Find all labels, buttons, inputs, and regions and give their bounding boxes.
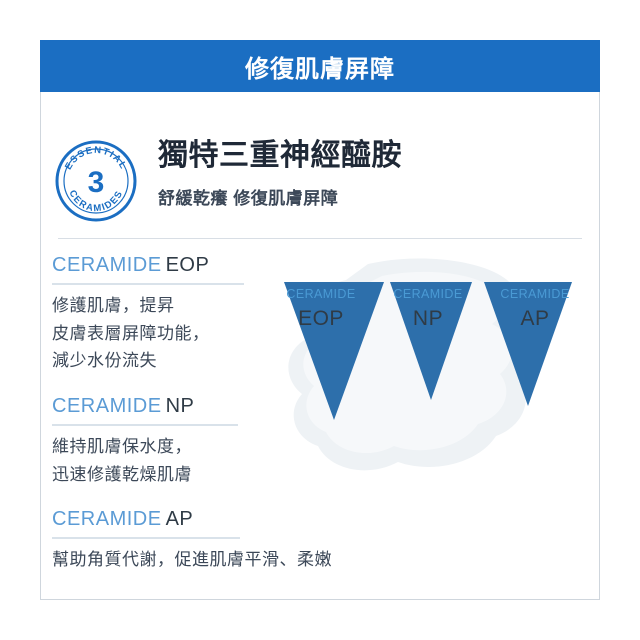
- ceramide-heading-eop: CERAMIDEEOP: [52, 254, 312, 277]
- ceramide-description-np: 維持肌膚保水度， 迅速修護乾燥肌膚: [52, 433, 312, 488]
- ceramide-block-eop: CERAMIDEEOP 修護肌膚，提昇 皮膚表層屏障功能， 減少水份流失: [52, 254, 312, 375]
- illus-label-np: CERAMIDE: [379, 287, 477, 301]
- ceramide-heading-np: CERAMIDENP: [52, 395, 312, 418]
- section-divider: [58, 238, 582, 239]
- illus-column-ap: CERAMIDE AP: [486, 287, 584, 331]
- ceramide-description-eop: 修護肌膚，提昇 皮膚表層屏障功能， 減少水份流失: [52, 292, 312, 375]
- illus-code-ap: AP: [486, 307, 584, 331]
- illus-column-np: CERAMIDE NP: [379, 287, 477, 331]
- title-block: 獨特三重神經醯胺 舒緩乾癢 修復肌膚屏障: [158, 138, 578, 209]
- ceramide-underline-ap: [52, 537, 240, 539]
- infographic-page: 修復肌膚屏障 ESSENTIAL CERAMIDES 3 ESSENTIAL 3…: [0, 0, 640, 640]
- ceramide-word-np: CERAMIDE: [52, 395, 162, 417]
- ceramide-code-ap: AP: [166, 508, 194, 530]
- illus-code-np: NP: [379, 307, 477, 331]
- ceramide-underline-eop: [52, 283, 244, 285]
- ceramide-underline-np: [52, 424, 238, 426]
- ceramide-word-ap: CERAMIDE: [52, 508, 162, 530]
- ceramide-code-np: NP: [166, 395, 195, 417]
- illus-label-ap: CERAMIDE: [486, 287, 584, 301]
- header-title: 修復肌膚屏障: [245, 49, 395, 84]
- ceramide-block-ap: CERAMIDEAP 幫助角質代謝，促進肌膚平滑、柔嫩: [52, 508, 312, 574]
- ceramide-heading-ap: CERAMIDEAP: [52, 508, 312, 531]
- ceramide-block-np: CERAMIDENP 維持肌膚保水度， 迅速修護乾燥肌膚: [52, 395, 312, 488]
- main-title: 獨特三重神經醯胺: [158, 138, 578, 174]
- svg-text:3: 3: [88, 166, 105, 199]
- essential-ceramides-badge-icon: ESSENTIAL CERAMIDES 3: [55, 140, 137, 222]
- ceramide-description-ap: 幫助角質代謝，促進肌膚平滑、柔嫩: [52, 546, 472, 574]
- ceramide-word-eop: CERAMIDE: [52, 254, 162, 276]
- header-banner: 修復肌膚屏障: [40, 40, 600, 92]
- illustration-labels: CERAMIDE EOP CERAMIDE NP CERAMIDE AP: [272, 287, 584, 331]
- ceramide-code-eop: EOP: [166, 254, 210, 276]
- sub-title: 舒緩乾癢 修復肌膚屏障: [158, 184, 578, 209]
